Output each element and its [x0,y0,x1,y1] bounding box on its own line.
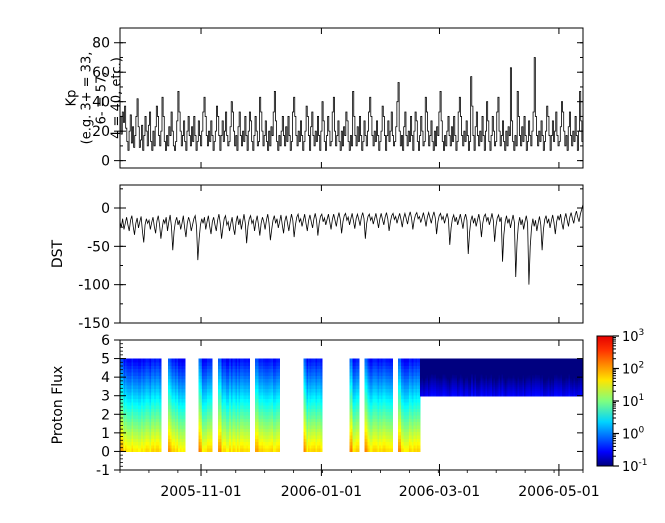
flux-xtick-label: 2006-03-01 [399,484,480,500]
colorbar-tick-labels: 10-1100101102103 [622,328,648,475]
figure-svg: 020406080 Kp(e.g. 3+ = 33,6- = 57,4 = 40… [0,0,665,523]
dst-ytick-label: -150 [78,316,110,332]
kp-axis-label-line: 4 = 40, etc.) [110,57,125,139]
kp-axis-label-line: (e.g. 3+ = 33, [80,52,95,145]
flux-ytick-label: 1 [101,426,110,442]
panel-proton-flux: -10123456 2005-11-012006-01-012006-03-01… [50,333,600,500]
colorbar-tick-label: 102 [622,361,644,378]
figure-canvas: 020406080 Kp(e.g. 3+ = 33,6- = 57,4 = 40… [0,0,665,523]
dst-plot-frame [120,185,583,323]
flux-xtick-label: 2005-11-01 [160,484,241,500]
colorbar-tick-label: 100 [622,426,645,443]
kp-ytick-label: 20 [92,124,110,140]
flux-x-axis-tick-labels: 2005-11-012006-01-012006-03-012006-05-01 [160,484,599,500]
dst-ytick-label: -50 [87,239,110,255]
kp-axis-label-line: Kp [65,90,80,107]
flux-axis-label: Proton Flux [50,366,66,445]
flux-ytick-label: 6 [101,333,110,349]
dst-ytick-label: -100 [78,278,110,294]
flux-ytick-label: 4 [101,370,110,386]
kp-axis-label-line: 6- = 57, [95,72,110,125]
flux-xtick-label: 2006-01-01 [281,484,362,500]
colorbar-tick-label: 101 [622,393,644,410]
kp-ytick-label: 0 [101,154,110,170]
flux-ytick-label: 5 [101,352,110,368]
flux-ytick-label: 0 [101,444,110,460]
colorbar-ticks [613,336,619,466]
flux-ytick-label: 2 [101,407,110,423]
colorbar-gradient [597,336,613,466]
kp-ytick-label: 80 [92,36,110,52]
dst-ytick-label: 0 [101,201,110,217]
flux-ytick-label: 3 [101,389,110,405]
panel-kp: 020406080 Kp(e.g. 3+ = 33,6- = 57,4 = 40… [65,28,584,170]
dst-axis-label: DST [50,239,66,268]
flux-xtick-label: 2006-05-01 [518,484,599,500]
flux-ytick-label: -1 [96,463,110,479]
colorbar: 10-1100101102103 [597,328,648,475]
panel-dst: 0-50-100-150 DST [50,185,583,332]
colorbar-tick-label: 103 [622,328,644,345]
colorbar-tick-label: 10-1 [622,458,648,475]
